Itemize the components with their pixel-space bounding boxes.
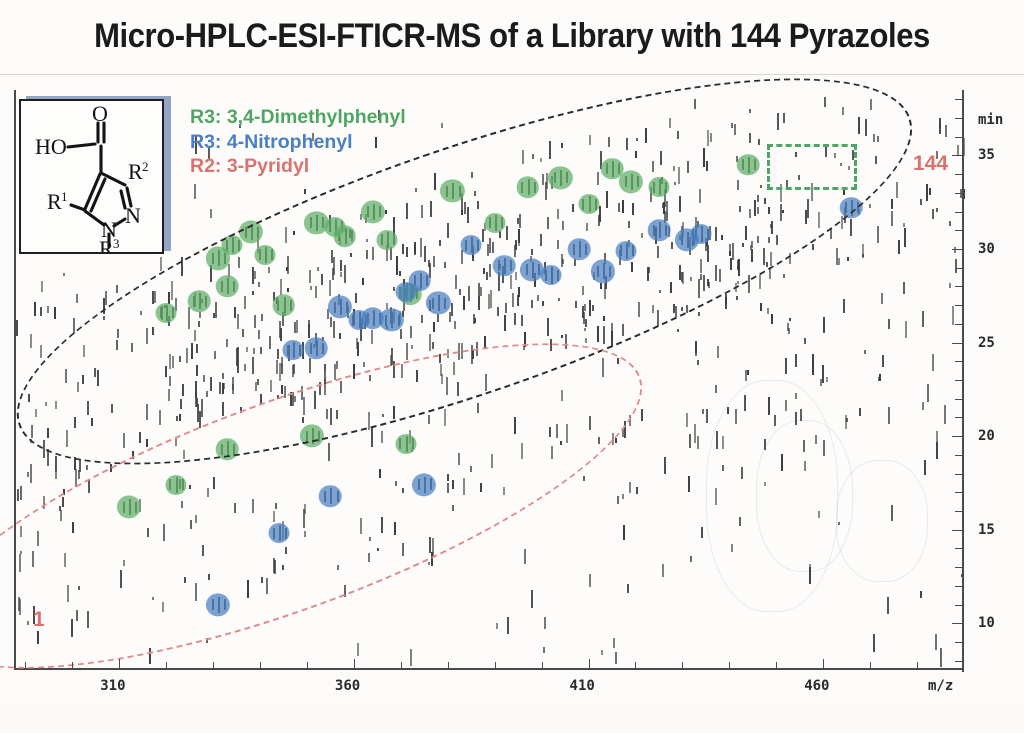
compound-marker[interactable] bbox=[619, 170, 643, 193]
peak-tick bbox=[165, 366, 167, 377]
compound-marker[interactable] bbox=[268, 523, 289, 543]
peak-tick bbox=[795, 393, 797, 399]
peak-tick bbox=[55, 456, 57, 472]
peak-tick bbox=[123, 560, 125, 566]
peak-tick bbox=[254, 271, 256, 279]
peak-tick bbox=[731, 123, 733, 129]
peak-tick bbox=[929, 188, 931, 195]
peak-tick bbox=[952, 306, 954, 325]
peak-tick bbox=[864, 350, 866, 354]
compound-marker[interactable] bbox=[395, 434, 416, 454]
y-axis-title: min bbox=[978, 112, 1003, 128]
peak-tick bbox=[310, 286, 312, 290]
peak-tick bbox=[812, 354, 814, 365]
peak-tick bbox=[201, 399, 203, 417]
compound-marker[interactable] bbox=[239, 221, 263, 244]
peak-tick bbox=[681, 272, 683, 282]
peak-tick bbox=[304, 504, 306, 514]
peak-tick bbox=[783, 113, 785, 123]
peak-tick bbox=[622, 324, 624, 336]
peak-tick bbox=[117, 329, 119, 338]
peak-tick bbox=[28, 394, 30, 402]
peak-tick bbox=[727, 407, 729, 414]
peak-tick bbox=[781, 454, 783, 472]
peak-tick bbox=[517, 295, 519, 305]
peak-tick bbox=[402, 488, 404, 493]
peak-tick bbox=[518, 229, 520, 243]
compound-marker[interactable] bbox=[376, 230, 397, 250]
peak-tick bbox=[287, 256, 289, 274]
label-r1: R bbox=[47, 189, 62, 214]
peak-tick bbox=[757, 195, 759, 202]
peak-tick bbox=[252, 291, 254, 296]
compound-marker[interactable] bbox=[461, 235, 482, 255]
peak-tick bbox=[336, 410, 338, 419]
peak-tick bbox=[480, 287, 482, 296]
peak-tick bbox=[549, 427, 551, 438]
peak-tick bbox=[747, 370, 749, 375]
peak-tick bbox=[210, 209, 212, 218]
peak-tick bbox=[160, 257, 162, 271]
x-tick-label: 460 bbox=[804, 678, 829, 694]
label-n2: N bbox=[125, 203, 141, 228]
compound-marker[interactable] bbox=[333, 225, 356, 247]
peak-tick bbox=[477, 201, 479, 210]
peak-tick bbox=[842, 107, 844, 115]
peak-tick bbox=[461, 343, 463, 359]
peak-tick bbox=[679, 196, 681, 212]
peak-tick bbox=[636, 138, 638, 141]
peak-tick bbox=[774, 415, 776, 426]
peak-tick bbox=[149, 648, 151, 664]
compound-marker[interactable] bbox=[221, 235, 242, 255]
peak-tick bbox=[664, 457, 666, 474]
page-title: Micro-HPLC-ESI-FTICR-MS of a Library wit… bbox=[94, 16, 930, 56]
peak-tick bbox=[645, 128, 647, 144]
peak-tick bbox=[372, 247, 374, 260]
peak-tick bbox=[340, 272, 342, 277]
compound-marker[interactable] bbox=[493, 255, 516, 277]
compound-marker[interactable] bbox=[616, 241, 637, 261]
peak-tick bbox=[932, 209, 934, 218]
peak-tick bbox=[597, 172, 599, 186]
peak-tick bbox=[260, 347, 262, 354]
peak-tick bbox=[514, 313, 516, 325]
peak-tick bbox=[463, 296, 465, 311]
peak-tick bbox=[293, 231, 295, 234]
peak-tick bbox=[480, 483, 482, 492]
structure-inset: HO O N N R R R 1 2 3 bbox=[19, 99, 164, 254]
peak-tick bbox=[179, 414, 181, 421]
peak-tick bbox=[787, 323, 789, 331]
x-tick-minor bbox=[776, 662, 777, 668]
peak-tick bbox=[222, 402, 224, 416]
y-tick-minor bbox=[955, 380, 962, 381]
scan-watermark bbox=[706, 380, 838, 612]
peak-tick bbox=[476, 342, 478, 355]
peak-tick bbox=[103, 316, 105, 320]
peak-tick bbox=[277, 395, 279, 399]
peak-tick bbox=[764, 439, 766, 451]
peak-tick bbox=[146, 439, 148, 447]
peak-tick bbox=[237, 361, 239, 374]
peak-tick bbox=[635, 151, 637, 157]
y-tick-minor bbox=[955, 286, 962, 287]
peak-tick bbox=[572, 204, 574, 212]
compound-marker[interactable] bbox=[216, 438, 239, 460]
compound-marker[interactable] bbox=[691, 224, 712, 244]
peak-tick bbox=[936, 442, 938, 459]
compound-marker[interactable] bbox=[216, 276, 239, 298]
peak-tick bbox=[252, 357, 254, 374]
peak-tick bbox=[815, 435, 817, 444]
peak-tick bbox=[657, 246, 659, 258]
peak-tick bbox=[63, 489, 65, 495]
peak-tick bbox=[491, 454, 493, 468]
peak-tick bbox=[505, 303, 507, 313]
peak-tick bbox=[681, 307, 683, 311]
peak-tick bbox=[617, 358, 619, 364]
peak-tick bbox=[303, 397, 305, 415]
peak-tick bbox=[188, 314, 190, 329]
peak-tick bbox=[766, 262, 768, 267]
peak-tick bbox=[446, 377, 448, 395]
peak-tick bbox=[276, 360, 278, 374]
peak-tick bbox=[308, 324, 310, 337]
peak-tick bbox=[458, 343, 460, 360]
compound-marker[interactable] bbox=[737, 154, 760, 176]
peak-tick bbox=[932, 354, 934, 371]
peak-tick bbox=[63, 273, 65, 276]
peak-tick bbox=[385, 210, 387, 214]
y-tick-major bbox=[952, 249, 962, 250]
peak-tick bbox=[757, 236, 759, 244]
peak-tick bbox=[589, 416, 591, 430]
y-tick-minor bbox=[955, 474, 962, 475]
peak-tick bbox=[30, 439, 32, 443]
peak-tick bbox=[565, 334, 567, 349]
compound-marker[interactable] bbox=[568, 238, 591, 260]
y-tick-minor bbox=[955, 492, 962, 493]
compound-marker[interactable] bbox=[578, 194, 599, 214]
compound-marker[interactable] bbox=[648, 220, 671, 242]
peak-tick bbox=[206, 391, 208, 398]
peak-tick bbox=[72, 522, 74, 533]
peak-tick bbox=[47, 428, 49, 438]
peak-tick bbox=[483, 268, 485, 274]
compound-marker[interactable] bbox=[156, 303, 177, 323]
peak-tick bbox=[629, 415, 631, 426]
peak-tick bbox=[922, 311, 924, 326]
peak-tick bbox=[697, 436, 699, 449]
compound-marker[interactable] bbox=[484, 213, 505, 233]
peak-tick bbox=[171, 281, 173, 300]
peak-tick bbox=[638, 302, 640, 317]
y-tick-minor bbox=[955, 193, 962, 194]
x-tick-minor bbox=[213, 662, 214, 668]
peak-tick bbox=[353, 364, 355, 379]
peak-tick bbox=[600, 283, 602, 289]
peak-tick bbox=[598, 437, 600, 444]
peak-tick bbox=[807, 199, 809, 218]
peak-tick bbox=[333, 321, 335, 338]
peak-tick bbox=[583, 476, 585, 481]
peak-tick bbox=[944, 405, 946, 424]
peak-tick bbox=[612, 433, 614, 446]
compound-marker[interactable] bbox=[165, 475, 186, 495]
peak-tick bbox=[287, 288, 289, 293]
peak-tick bbox=[458, 453, 460, 465]
peak-tick bbox=[242, 329, 244, 337]
peak-tick bbox=[455, 275, 457, 288]
compound-marker[interactable] bbox=[319, 485, 342, 507]
peak-tick bbox=[433, 256, 435, 267]
peak-tick bbox=[760, 185, 762, 188]
peak-tick bbox=[826, 377, 828, 382]
peak-tick bbox=[181, 501, 183, 508]
compound-marker[interactable] bbox=[282, 340, 303, 360]
peak-tick bbox=[67, 585, 69, 602]
peak-tick bbox=[328, 443, 330, 460]
peak-tick bbox=[31, 425, 33, 438]
y-tick-minor bbox=[955, 661, 962, 662]
peak-tick bbox=[754, 200, 756, 216]
peak-tick bbox=[280, 328, 282, 342]
peak-tick bbox=[464, 202, 466, 215]
slide-canvas: Micro-HPLC-ESI-FTICR-MS of a Library wit… bbox=[0, 0, 1024, 710]
peak-tick bbox=[666, 201, 668, 214]
x-tick-minor bbox=[260, 662, 261, 668]
peak-tick bbox=[292, 365, 294, 377]
peak-tick bbox=[402, 244, 404, 254]
peak-tick bbox=[369, 537, 371, 541]
y-tick-label: 10 bbox=[978, 615, 995, 631]
peak-tick bbox=[461, 210, 463, 215]
peak-tick bbox=[111, 404, 113, 412]
peak-tick bbox=[891, 211, 893, 226]
pyridyl-ellipse bbox=[0, 278, 676, 733]
peak-tick bbox=[415, 188, 417, 192]
peak-tick bbox=[904, 228, 906, 247]
peak-tick bbox=[677, 131, 679, 140]
peak-tick bbox=[820, 379, 822, 387]
peak-tick bbox=[207, 488, 209, 496]
peak-tick bbox=[82, 375, 84, 383]
peak-tick bbox=[735, 283, 737, 292]
peak-tick bbox=[551, 446, 553, 459]
peak-tick bbox=[945, 125, 947, 138]
compound-marker[interactable] bbox=[408, 270, 431, 292]
peak-tick bbox=[715, 227, 717, 241]
peak-tick bbox=[163, 524, 165, 541]
peak-tick bbox=[74, 457, 76, 471]
peak-tick bbox=[789, 253, 791, 264]
peak-tick bbox=[737, 260, 739, 269]
peak-tick bbox=[315, 286, 317, 299]
peak-tick bbox=[531, 590, 533, 608]
peak-tick bbox=[19, 599, 21, 615]
peak-tick bbox=[496, 623, 498, 629]
compound-marker[interactable] bbox=[188, 291, 211, 313]
peak-tick bbox=[818, 511, 820, 518]
peak-tick bbox=[628, 221, 630, 228]
compound-marker[interactable] bbox=[272, 294, 295, 316]
peak-tick bbox=[603, 316, 605, 320]
peak-tick bbox=[735, 409, 737, 425]
compound-marker[interactable] bbox=[206, 593, 230, 616]
peak-tick bbox=[647, 267, 649, 281]
peak-tick bbox=[281, 385, 283, 394]
peak-tick bbox=[210, 377, 212, 391]
peak-tick bbox=[340, 381, 342, 393]
y-tick-minor bbox=[955, 511, 962, 512]
peak-tick bbox=[739, 517, 741, 525]
peak-tick bbox=[294, 396, 296, 402]
peak-tick bbox=[76, 294, 78, 304]
peak-tick bbox=[804, 461, 806, 470]
peak-tick bbox=[195, 515, 197, 523]
peak-tick bbox=[194, 184, 196, 199]
peak-tick bbox=[470, 466, 472, 471]
y-tick-minor bbox=[955, 567, 962, 568]
peak-tick bbox=[532, 154, 534, 160]
compound-marker[interactable] bbox=[305, 337, 328, 359]
x-tick-minor bbox=[682, 662, 683, 668]
peak-tick bbox=[208, 574, 210, 580]
compound-marker[interactable] bbox=[117, 496, 141, 519]
peak-tick bbox=[782, 210, 784, 214]
peak-tick bbox=[734, 124, 736, 135]
peak-tick bbox=[285, 227, 287, 243]
peak-tick bbox=[76, 610, 78, 621]
peak-tick bbox=[745, 370, 747, 380]
compound-marker[interactable] bbox=[254, 245, 275, 265]
compound-marker[interactable] bbox=[361, 200, 385, 223]
peak-tick bbox=[377, 548, 379, 551]
peak-tick bbox=[37, 531, 39, 547]
peak-tick bbox=[321, 274, 323, 285]
peak-tick bbox=[399, 271, 401, 277]
peak-tick bbox=[957, 145, 959, 156]
compound-marker[interactable] bbox=[412, 473, 436, 496]
peak-tick bbox=[439, 354, 441, 363]
peak-tick bbox=[537, 295, 539, 301]
peak-tick bbox=[622, 494, 624, 499]
peak-tick bbox=[414, 244, 416, 254]
peak-tick bbox=[186, 348, 188, 364]
peak-tick bbox=[64, 553, 66, 567]
peak-tick bbox=[366, 239, 368, 242]
peak-tick bbox=[86, 465, 88, 470]
peak-tick bbox=[344, 585, 346, 597]
peak-tick bbox=[30, 334, 32, 349]
peak-tick bbox=[636, 487, 638, 494]
compound-marker[interactable] bbox=[541, 265, 562, 285]
peak-tick bbox=[589, 300, 591, 317]
peak-tick bbox=[521, 443, 523, 459]
peak-tick bbox=[540, 158, 542, 162]
peak-tick bbox=[379, 469, 381, 477]
peak-tick bbox=[843, 299, 845, 313]
compound-marker[interactable] bbox=[548, 166, 572, 189]
peak-tick bbox=[660, 151, 662, 165]
peak-tick bbox=[55, 472, 57, 479]
peak-tick bbox=[203, 375, 205, 382]
x-tick-minor bbox=[166, 662, 167, 668]
compound-marker[interactable] bbox=[648, 177, 669, 197]
compound-marker[interactable] bbox=[516, 176, 539, 198]
peak-tick bbox=[363, 362, 365, 367]
peak-tick bbox=[406, 203, 408, 219]
peak-tick bbox=[366, 250, 368, 259]
peak-tick bbox=[309, 358, 311, 374]
peak-tick bbox=[91, 418, 93, 425]
peak-tick bbox=[888, 319, 890, 329]
compound-marker[interactable] bbox=[300, 425, 324, 448]
compound-marker[interactable] bbox=[426, 292, 450, 315]
peak-tick bbox=[690, 277, 692, 281]
compound-marker[interactable] bbox=[591, 260, 615, 283]
peak-tick bbox=[309, 270, 311, 282]
peak-tick bbox=[924, 460, 926, 474]
peak-tick bbox=[120, 570, 122, 588]
compound-marker[interactable] bbox=[840, 197, 863, 219]
peak-tick bbox=[641, 409, 643, 421]
peak-tick bbox=[800, 409, 802, 421]
peak-tick bbox=[514, 417, 516, 433]
peak-tick bbox=[561, 335, 563, 338]
x-tick-minor bbox=[307, 662, 308, 668]
peak-tick bbox=[246, 347, 248, 353]
peak-tick bbox=[881, 293, 883, 305]
peak-tick bbox=[838, 522, 840, 526]
peak-tick bbox=[258, 330, 260, 340]
peak-tick bbox=[330, 317, 332, 327]
label-r1-sup: 1 bbox=[61, 189, 68, 204]
peak-tick bbox=[721, 235, 723, 240]
peak-tick bbox=[66, 430, 68, 447]
label-carbonyl-o: O bbox=[92, 101, 108, 126]
peak-tick bbox=[523, 346, 525, 351]
peak-tick bbox=[702, 409, 704, 414]
peak-tick bbox=[818, 212, 820, 228]
peak-tick bbox=[147, 528, 149, 537]
label-r3: R bbox=[99, 236, 114, 252]
peak-tick bbox=[486, 272, 488, 280]
peak-tick bbox=[542, 174, 544, 185]
peak-tick bbox=[869, 204, 871, 208]
peak-tick bbox=[180, 399, 182, 409]
peak-tick bbox=[641, 233, 643, 238]
peak-tick bbox=[339, 333, 341, 339]
peak-tick bbox=[715, 385, 717, 393]
peak-tick bbox=[169, 354, 171, 369]
peak-tick bbox=[557, 209, 559, 218]
y-tick-minor bbox=[955, 324, 962, 325]
peak-tick bbox=[381, 517, 383, 533]
peak-tick bbox=[463, 478, 465, 495]
peak-tick bbox=[429, 334, 431, 351]
peak-tick bbox=[330, 408, 332, 425]
peak-tick bbox=[927, 384, 929, 403]
label-r2-sup: 2 bbox=[142, 159, 149, 174]
x-tick-major bbox=[119, 659, 120, 668]
y-tick-label: 20 bbox=[978, 428, 995, 444]
legend-item-pyridyl: R2: 3-Pyridyl bbox=[190, 154, 406, 179]
peak-tick bbox=[488, 294, 490, 310]
y-tick-minor bbox=[955, 137, 962, 138]
peak-tick bbox=[955, 259, 957, 273]
